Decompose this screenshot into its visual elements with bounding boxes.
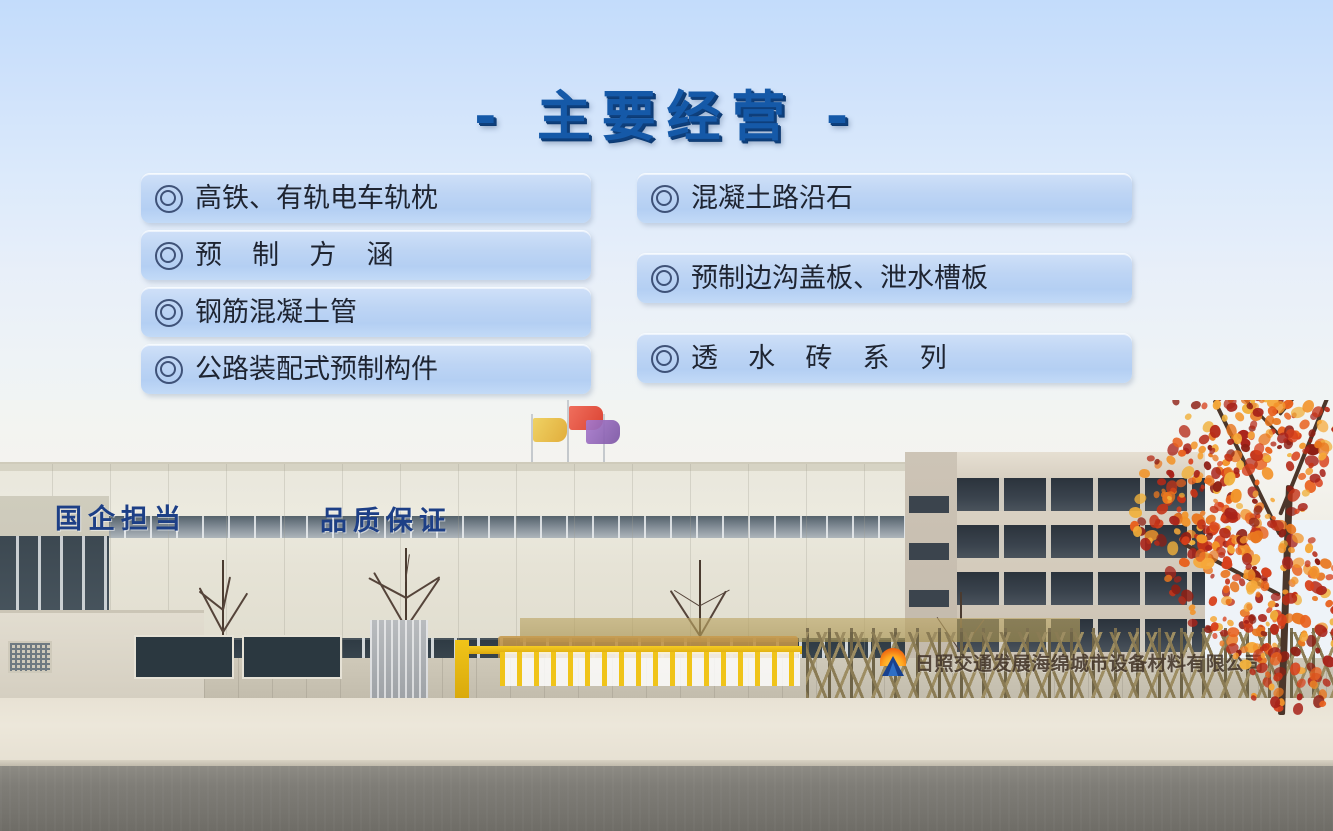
facade-sign-2: 品质保证 bbox=[320, 499, 452, 538]
sun-over-mountain-logo bbox=[878, 648, 908, 676]
autumn-leaf bbox=[1184, 412, 1193, 421]
autumn-leaf bbox=[1167, 541, 1179, 555]
autumn-leaf bbox=[1208, 595, 1219, 607]
autumn-leaf bbox=[1221, 414, 1228, 422]
autumn-leaf bbox=[1202, 460, 1213, 471]
autumn-leaf bbox=[1219, 640, 1224, 646]
boom-barrier-post bbox=[455, 640, 469, 700]
autumn-leaf bbox=[1311, 551, 1318, 558]
pedestrian-gate bbox=[370, 620, 428, 700]
gate-house-window bbox=[242, 635, 342, 679]
service-pill[interactable]: 公路装配式预制构件 bbox=[141, 344, 591, 394]
autumn-leaf bbox=[1198, 452, 1204, 459]
double-circle-icon bbox=[651, 265, 679, 293]
autumn-leaf bbox=[1329, 618, 1333, 626]
factory-roofline bbox=[0, 464, 929, 471]
double-circle-icon bbox=[155, 185, 183, 213]
autumn-leaf bbox=[1293, 703, 1305, 717]
service-pill-label: 钢筋混凝土管 bbox=[195, 299, 357, 326]
autumn-leaf bbox=[1166, 469, 1175, 479]
autumn-leaf bbox=[1189, 539, 1196, 546]
autumn-leaf bbox=[1212, 633, 1218, 639]
autumn-leaf bbox=[1257, 613, 1267, 622]
service-pill[interactable]: 预制边沟盖板、泄水槽板 bbox=[637, 253, 1132, 303]
autumn-leaf bbox=[1257, 400, 1265, 404]
autumn-leaf bbox=[1276, 444, 1282, 450]
autumn-leaf bbox=[1326, 573, 1333, 581]
service-pill[interactable]: 混凝土路沿石 bbox=[637, 173, 1132, 223]
autumn-leaf bbox=[1133, 526, 1143, 538]
autumn-leaf bbox=[1297, 501, 1309, 512]
autumn-leaf bbox=[1171, 400, 1181, 406]
double-circle-icon bbox=[155, 299, 183, 327]
autumn-leaf bbox=[1226, 619, 1235, 628]
autumn-leaf bbox=[1304, 542, 1313, 553]
autumn-leaf bbox=[1249, 420, 1258, 430]
flag-gold bbox=[533, 418, 567, 442]
autumn-leaf bbox=[1242, 600, 1253, 612]
autumn-leaf bbox=[1157, 477, 1167, 486]
autumn-leaf bbox=[1288, 546, 1296, 553]
autumn-leaf bbox=[1254, 479, 1260, 486]
autumn-leaf bbox=[1212, 480, 1223, 493]
gate-house bbox=[0, 610, 204, 703]
service-pill-label: 公路装配式预制构件 bbox=[195, 356, 438, 383]
autumn-leaf bbox=[1225, 598, 1230, 605]
autumn-leaf bbox=[1209, 424, 1222, 439]
autumn-leaf bbox=[1187, 478, 1196, 486]
flag-purple bbox=[586, 420, 620, 444]
autumn-leaf bbox=[1230, 489, 1243, 504]
autumn-leaf bbox=[1211, 467, 1221, 479]
autumn-leaf bbox=[1129, 507, 1142, 518]
autumn-leaf bbox=[1240, 444, 1250, 453]
autumn-leaf bbox=[1266, 519, 1277, 528]
autumn-leaf bbox=[1189, 609, 1196, 616]
autumn-leaf bbox=[1190, 441, 1198, 450]
page-title: - 主要经营 - bbox=[0, 72, 1333, 151]
autumn-leaf bbox=[1269, 624, 1279, 636]
autumn-leaf bbox=[1165, 454, 1177, 466]
autumn-leaf bbox=[1268, 683, 1274, 690]
autumn-leaf bbox=[1177, 449, 1186, 457]
autumn-leaf bbox=[1315, 647, 1321, 654]
double-circle-icon bbox=[155, 356, 183, 384]
autumn-tree bbox=[1128, 400, 1333, 715]
service-pill-label: 预 制 方 涵 bbox=[195, 242, 404, 269]
autumn-leaf bbox=[1222, 616, 1226, 621]
autumn-leaf bbox=[1201, 402, 1208, 410]
autumn-leaf bbox=[1153, 491, 1159, 498]
autumn-leaf bbox=[1271, 442, 1277, 447]
autumn-leaf bbox=[1190, 400, 1202, 411]
double-circle-icon bbox=[155, 242, 183, 270]
mountain-inner-peak-icon bbox=[888, 662, 898, 676]
service-pill[interactable]: 钢筋混凝土管 bbox=[141, 287, 591, 337]
autumn-leaf bbox=[1301, 488, 1311, 497]
autumn-leaf bbox=[1177, 422, 1194, 439]
autumn-leaf bbox=[1222, 585, 1229, 593]
autumn-leaf bbox=[1312, 596, 1318, 601]
autumn-leaf bbox=[1269, 497, 1276, 504]
facade-sign-1: 国企担当 bbox=[55, 497, 187, 536]
asphalt-road bbox=[0, 766, 1333, 831]
gate-house-vent bbox=[8, 641, 52, 673]
autumn-leaf bbox=[1210, 573, 1216, 579]
poster-canvas: 国企担当 品质保证 bbox=[0, 0, 1333, 831]
service-pill[interactable]: 透 水 砖 系 列 bbox=[637, 333, 1132, 383]
autumn-leaf bbox=[1139, 469, 1149, 478]
autumn-leaf bbox=[1296, 694, 1302, 702]
autumn-leaf bbox=[1176, 478, 1188, 488]
factory-photograph: 国企担当 品质保证 bbox=[0, 400, 1333, 831]
autumn-leaf bbox=[1284, 460, 1296, 472]
service-pill[interactable]: 预 制 方 涵 bbox=[141, 230, 591, 280]
autumn-leaf bbox=[1272, 418, 1281, 426]
autumn-leaf bbox=[1253, 490, 1259, 498]
autumn-leaf bbox=[1189, 488, 1199, 499]
services-left-column: 高铁、有轨电车轨枕预 制 方 涵钢筋混凝土管公路装配式预制构件 bbox=[141, 173, 591, 401]
autumn-leaf bbox=[1236, 503, 1243, 509]
autumn-leaf bbox=[1323, 406, 1331, 413]
double-circle-icon bbox=[651, 345, 679, 373]
gate-house-window bbox=[134, 635, 234, 679]
service-pill-label: 透 水 砖 系 列 bbox=[691, 345, 958, 372]
service-pill[interactable]: 高铁、有轨电车轨枕 bbox=[141, 173, 591, 223]
autumn-leaf bbox=[1308, 428, 1316, 437]
autumn-leaf bbox=[1188, 458, 1193, 464]
service-pill-label: 高铁、有轨电车轨枕 bbox=[195, 185, 438, 212]
autumn-leaf bbox=[1133, 492, 1148, 506]
autumn-leaf bbox=[1320, 653, 1333, 669]
service-pill-label: 混凝土路沿石 bbox=[691, 185, 853, 212]
double-circle-icon bbox=[651, 185, 679, 213]
service-pill-label: 预制边沟盖板、泄水槽板 bbox=[691, 265, 988, 292]
services-right-column: 混凝土路沿石预制边沟盖板、泄水槽板透 水 砖 系 列 bbox=[637, 173, 1132, 413]
autumn-leaf bbox=[1178, 557, 1190, 568]
autumn-leaf bbox=[1179, 492, 1185, 497]
autumn-leaf bbox=[1288, 645, 1302, 658]
autumn-leaf bbox=[1295, 676, 1308, 689]
autumn-leaf bbox=[1321, 677, 1332, 688]
boom-barrier-skirt bbox=[500, 652, 800, 686]
autumn-leaf bbox=[1188, 619, 1198, 628]
